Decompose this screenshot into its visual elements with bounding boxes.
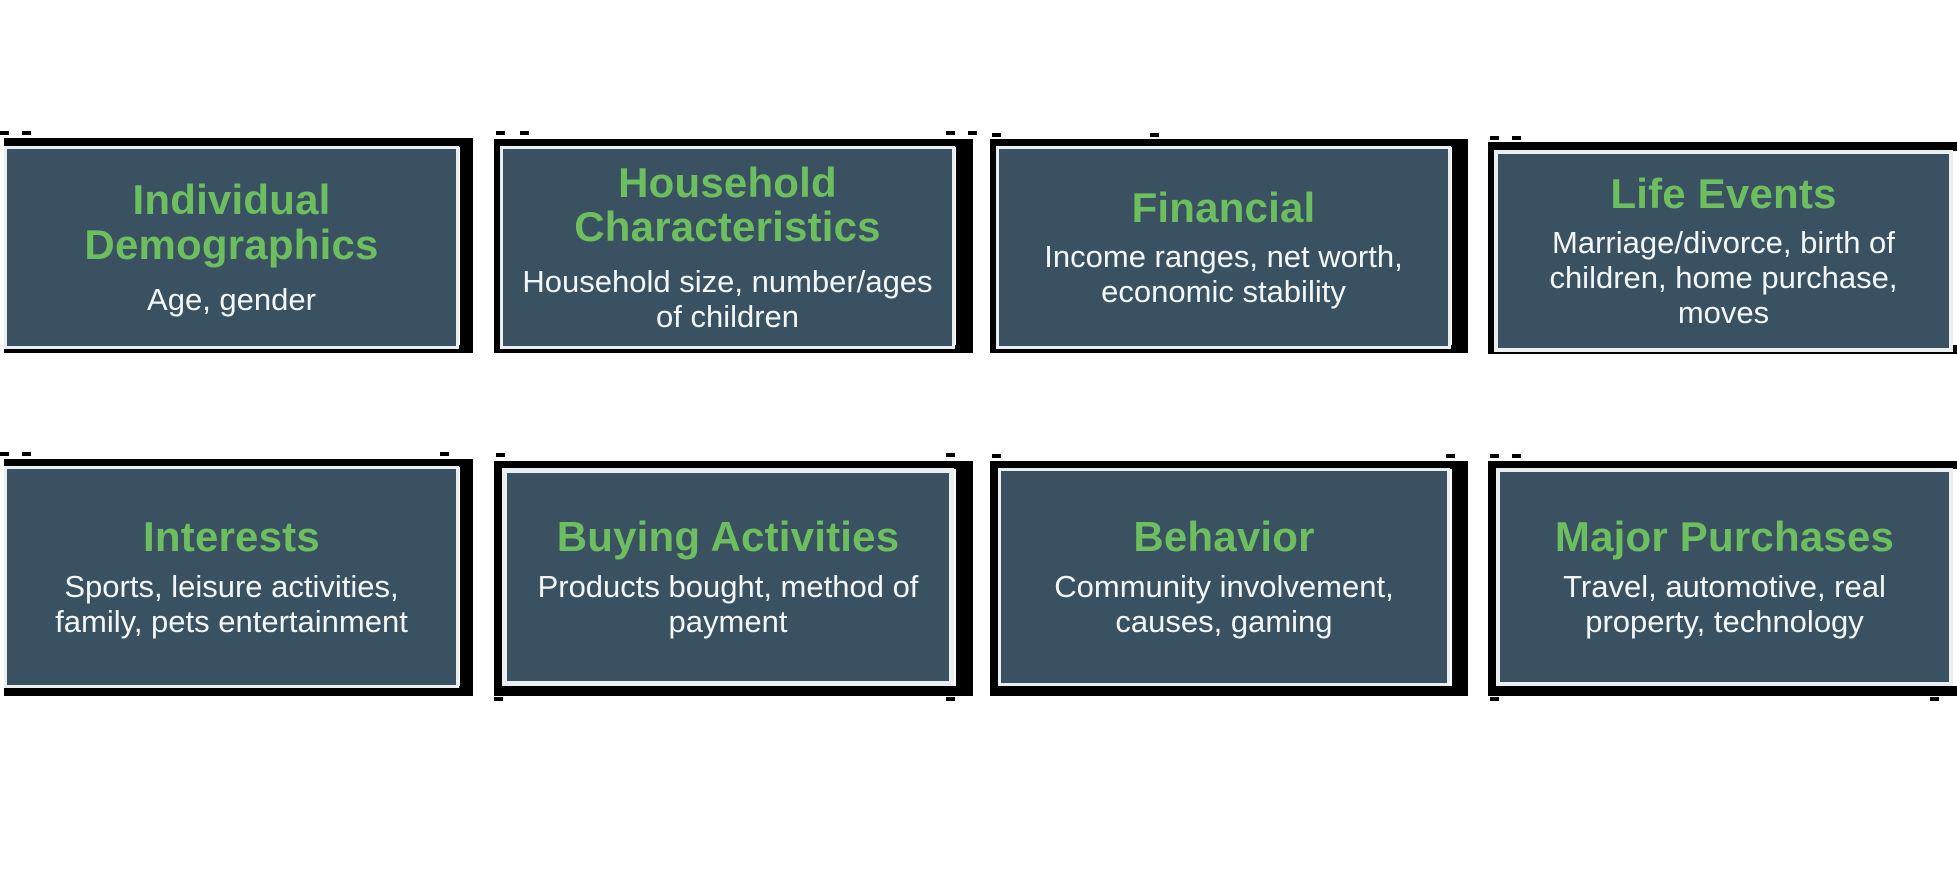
selection-handle-tick: [494, 697, 503, 701]
selection-handle-tick: [496, 453, 505, 457]
card-outline-bottom: [1488, 686, 1957, 696]
selection-handle-tick: [520, 131, 529, 135]
card-description: Household size, number/ages of children: [518, 264, 937, 334]
selection-handle-tick: [22, 452, 31, 456]
diagram-canvas: Individual Demographics Age, gender Hous…: [0, 0, 1957, 889]
card-outline-right: [1452, 139, 1468, 352]
selection-handle-tick: [0, 452, 9, 456]
selection-handle-tick: [496, 131, 505, 135]
selection-handle-tick: [968, 131, 977, 135]
selection-handle-tick: [1150, 133, 1159, 137]
selection-handle-tick: [1930, 697, 1939, 701]
card-buying-activities[interactable]: Buying Activities Products bought, metho…: [502, 468, 954, 686]
card-outline-right: [1452, 461, 1468, 696]
card-behavior[interactable]: Behavior Community involvement, causes, …: [998, 468, 1450, 686]
card-description: Age, gender: [22, 282, 441, 317]
selection-handle-tick: [1489, 156, 1493, 165]
selection-handle-tick: [992, 454, 1001, 458]
selection-handle-tick: [1446, 454, 1455, 458]
selection-handle-tick: [946, 697, 955, 701]
card-outline-right: [956, 139, 973, 352]
selection-handle-tick: [946, 453, 955, 457]
card-individual-demographics[interactable]: Individual Demographics Age, gender: [4, 146, 459, 349]
card-title: Interests: [22, 515, 441, 560]
selection-handle-tick: [1490, 454, 1499, 458]
card-description: Income ranges, net worth, economic stabi…: [1014, 239, 1433, 309]
selection-handle-tick: [991, 150, 995, 159]
card-interests[interactable]: Interests Sports, leisure activities, fa…: [4, 466, 459, 688]
card-description: Sports, leisure activities, family, pets…: [22, 569, 441, 639]
selection-handle-tick: [440, 452, 449, 456]
card-title: Life Events: [1512, 172, 1934, 217]
card-outline-right: [460, 138, 473, 352]
card-outline-right: [460, 459, 473, 696]
selection-handle-tick: [1490, 697, 1499, 701]
card-title: Financial: [1014, 186, 1433, 231]
card-title: Individual Demographics: [22, 178, 441, 267]
selection-handle-tick: [1512, 136, 1521, 140]
card-title: Household Characteristics: [518, 161, 937, 250]
card-major-purchases[interactable]: Major Purchases Travel, automotive, real…: [1496, 468, 1953, 686]
card-description: Travel, automotive, real property, techn…: [1514, 569, 1934, 639]
selection-handle-tick: [1512, 454, 1521, 458]
card-description: Products bought, method of payment: [520, 569, 936, 639]
selection-handle-tick: [946, 131, 955, 135]
selection-handle-tick: [1490, 136, 1499, 140]
card-outline-bottom: [990, 686, 1468, 696]
card-description: Marriage/divorce, birth of children, hom…: [1512, 225, 1934, 330]
card-title: Behavior: [1016, 515, 1432, 560]
card-life-events[interactable]: Life Events Marriage/divorce, birth of c…: [1494, 150, 1953, 352]
card-outline-right: [956, 461, 973, 696]
selection-handle-tick: [22, 131, 31, 135]
selection-handle-tick: [992, 133, 1001, 137]
card-title: Buying Activities: [520, 515, 936, 560]
selection-handle-tick: [0, 131, 9, 135]
card-household-characteristics[interactable]: Household Characteristics Household size…: [500, 146, 955, 349]
card-outline-bottom: [494, 686, 973, 696]
card-description: Community involvement, causes, gaming: [1016, 569, 1432, 639]
card-title: Major Purchases: [1514, 515, 1934, 560]
card-financial[interactable]: Financial Income ranges, net worth, econ…: [996, 146, 1451, 349]
card-outline-left: [990, 461, 998, 696]
